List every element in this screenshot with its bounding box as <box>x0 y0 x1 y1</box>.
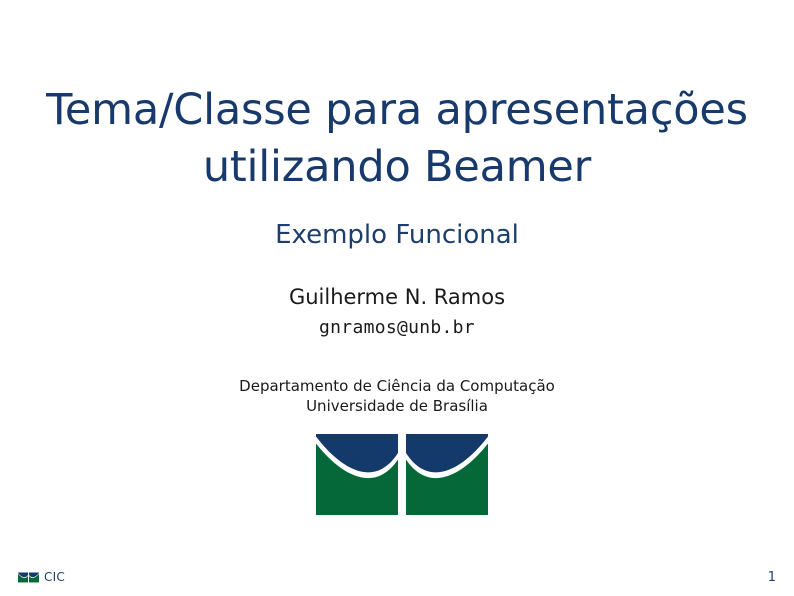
page-number: 1 <box>768 571 776 585</box>
unb-logo-left-half <box>316 434 398 515</box>
unb-logo-icon <box>18 571 39 584</box>
footer-branding: CIC <box>18 571 65 584</box>
unb-logo <box>316 434 488 515</box>
footer-label: CIC <box>44 571 65 584</box>
page-title-line-2: utilizando Beamer <box>0 139 794 196</box>
page-subtitle: Exemplo Funcional <box>0 218 794 252</box>
page-title-line-1: Tema/Classe para apresentações <box>0 82 794 139</box>
author-email: gnramos@unb.br <box>0 316 794 340</box>
institute-university: Universidade de Brasília <box>0 396 794 416</box>
institute-department: Departamento de Ciência da Computação <box>0 376 794 396</box>
author-name: Guilherme N. Ramos <box>0 283 794 311</box>
unb-logo-right-half <box>406 434 488 515</box>
author-block: Guilherme N. Ramos gnramos@unb.br <box>0 283 794 340</box>
institute-block: Departamento de Ciência da Computação Un… <box>0 376 794 416</box>
title-block: Tema/Classe para apresentações utilizand… <box>0 82 794 196</box>
beamer-title-slide: Tema/Classe para apresentações utilizand… <box>0 0 794 596</box>
